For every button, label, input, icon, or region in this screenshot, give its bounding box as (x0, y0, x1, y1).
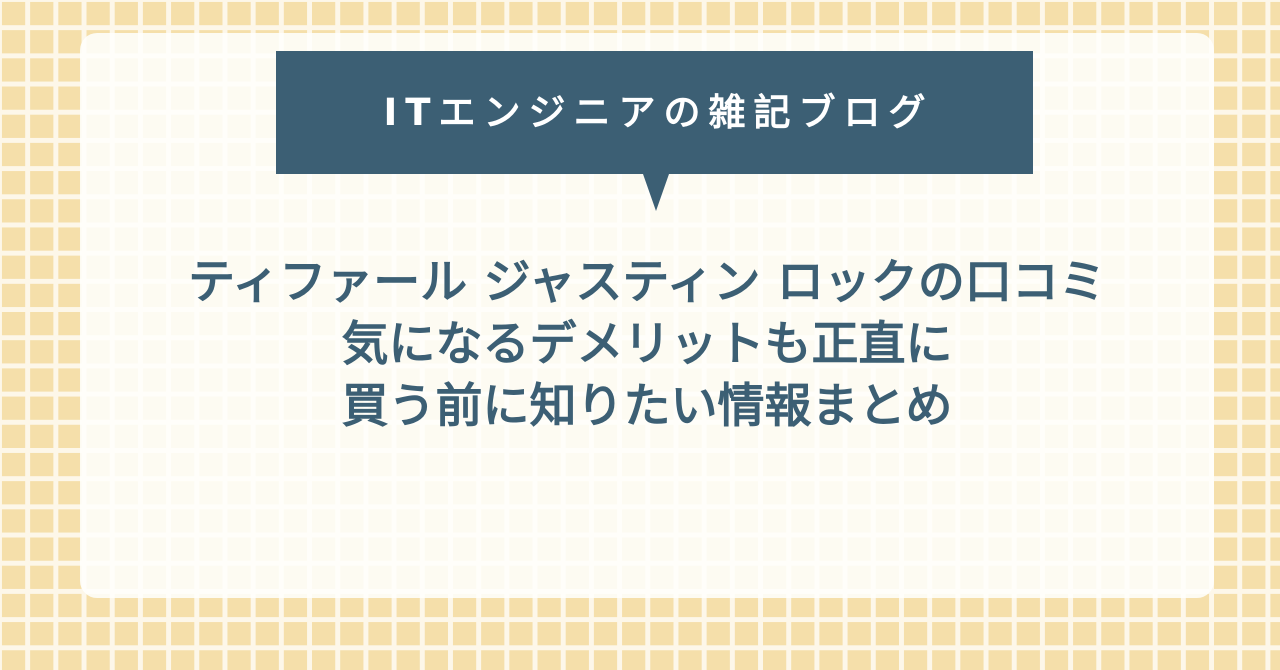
article-title-line-2: 気になるデメリットも正直に (80, 314, 1214, 376)
blog-name-ribbon: ITエンジニアの雑記ブログ (276, 51, 1033, 174)
article-title-line-3: 買う前に知りたい情報まとめ (80, 376, 1214, 438)
ribbon-pointer-triangle (643, 174, 669, 211)
article-title-line-1: ティファール ジャスティン ロックの口コミ (80, 252, 1214, 314)
blog-name-label: ITエンジニアの雑記ブログ (375, 94, 933, 131)
eyecatch-image: ITエンジニアの雑記ブログ ティファール ジャスティン ロックの口コミ 気になる… (0, 0, 1280, 670)
article-title: ティファール ジャスティン ロックの口コミ 気になるデメリットも正直に 買う前に… (80, 252, 1214, 438)
